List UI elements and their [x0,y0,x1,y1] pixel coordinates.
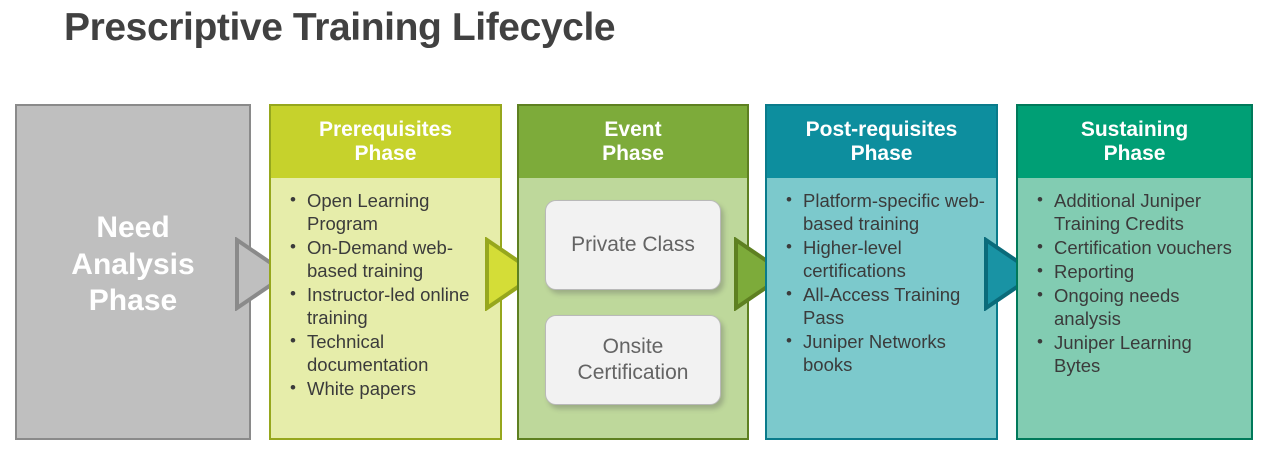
phase-body-sustaining: Additional Juniper Training Credits Cert… [1018,178,1251,438]
phase-card-sustaining[interactable]: Sustaining Phase Additional Juniper Trai… [1016,104,1253,440]
phase-title-line-3: Phase [71,283,194,320]
list-item: Additional Juniper Training Credits [1052,190,1241,236]
phase-title-line-1: Sustaining [1081,118,1188,142]
phase-header-sustaining: Sustaining Phase [1018,106,1251,178]
phase-body-post-requisites: Platform-specific web-based training Hig… [767,178,996,438]
list-item: On-Demand web-based training [305,237,490,283]
phase-header-post-requisites: Post-requisites Phase [767,106,996,178]
list-item: Juniper Learning Bytes [1052,332,1241,378]
phase-header-prerequisites: Prerequisites Phase [271,106,500,178]
list-item: Ongoing needs analysis [1052,285,1241,331]
phase-title-line-1: Post-requisites [806,118,958,142]
phase-title-line-2: Phase [806,142,958,166]
phase-title-line-2: Analysis [71,247,194,284]
phase-title-line-1: Event [602,118,664,142]
list-item: White papers [305,378,490,401]
event-option-private-class[interactable]: Private Class [545,200,721,290]
list-item: Platform-specific web-based training [801,190,986,236]
bullet-list-sustaining: Additional Juniper Training Credits Cert… [1018,178,1251,378]
phase-title-line-1: Prerequisites [319,118,452,142]
phase-title-line-2: Phase [319,142,452,166]
list-item: Technical documentation [305,331,490,377]
list-item: Higher-level certifications [801,237,986,283]
phase-body-event: Private Class Onsite Certification [519,178,747,438]
phase-body-prerequisites: Open Learning Program On-Demand web-base… [271,178,500,438]
phase-title-line-2: Phase [602,142,664,166]
list-item: Instructor-led online training [305,284,490,330]
phase-title-need-analysis: Need Analysis Phase [71,210,194,334]
phase-title-line-2: Phase [1081,142,1188,166]
list-item: All-Access Training Pass [801,284,986,330]
bullet-list-prerequisites: Open Learning Program On-Demand web-base… [271,178,500,400]
bullet-list-post-requisites: Platform-specific web-based training Hig… [767,178,996,377]
list-item: Reporting [1052,261,1241,284]
list-item: Juniper Networks books [801,331,986,377]
phase-card-event[interactable]: Event Phase Private Class Onsite Certifi… [517,104,749,440]
list-item: Open Learning Program [305,190,490,236]
phase-card-need-analysis[interactable]: Need Analysis Phase [15,104,251,440]
list-item: Certification vouchers [1052,237,1241,260]
phase-header-event: Event Phase [519,106,747,178]
phase-card-post-requisites[interactable]: Post-requisites Phase Platform-specific … [765,104,998,440]
page-title: Prescriptive Training Lifecycle [64,6,615,50]
phase-card-prerequisites[interactable]: Prerequisites Phase Open Learning Progra… [269,104,502,440]
lifecycle-diagram: Need Analysis Phase Prerequisites Phase … [0,104,1270,444]
event-option-onsite-certification[interactable]: Onsite Certification [545,315,721,405]
phase-title-line-1: Need [71,210,194,247]
